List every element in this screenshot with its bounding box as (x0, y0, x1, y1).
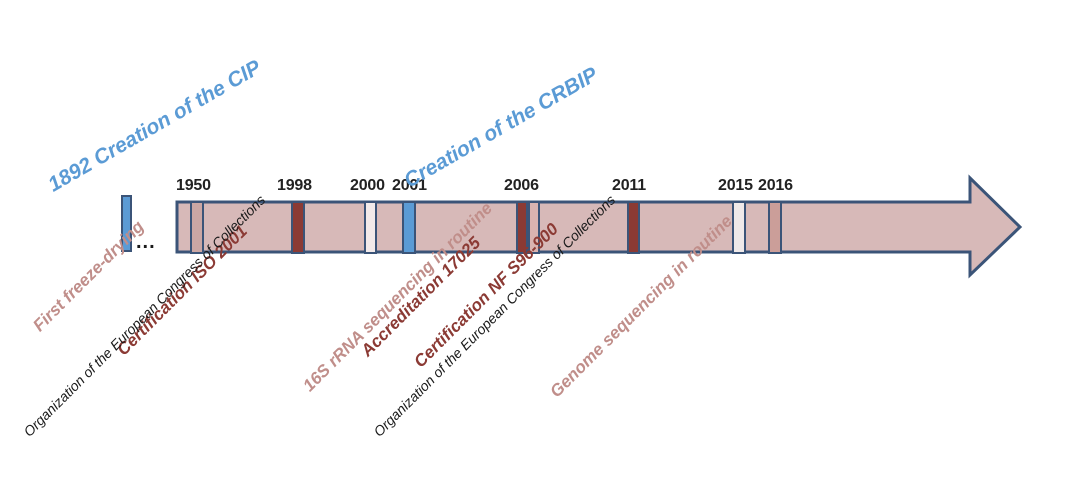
event-label-first-freeze-drying: First freeze-drying (30, 218, 147, 335)
year-label-1950: 1950 (176, 177, 211, 195)
marker-2016[interactable] (768, 201, 782, 254)
marker-1998[interactable] (291, 201, 305, 254)
marker-2001[interactable] (402, 201, 416, 254)
year-label-2016: 2016 (758, 177, 793, 195)
event-label-creation-crbip: Creation of the CRBIP (401, 64, 601, 192)
marker-2000[interactable] (364, 201, 377, 254)
event-label-16s-rrna-sequencing: 16S rRNA sequencing in routine (300, 199, 495, 394)
event-label-creation-cip: 1892 Creation of the CIP (45, 57, 265, 196)
year-label-2000: 2000 (350, 177, 385, 195)
marker-2015[interactable] (732, 201, 746, 254)
marker-2011[interactable] (627, 201, 640, 254)
year-label-2006: 2006 (504, 177, 539, 195)
year-label-2011: 2011 (612, 177, 646, 195)
year-label-2015: 2015 (718, 177, 753, 195)
year-label-1998: 1998 (277, 177, 312, 195)
timeline-diagram: ... 1950 1998 2000 2001 2006 2011 2015 2… (0, 0, 1080, 498)
